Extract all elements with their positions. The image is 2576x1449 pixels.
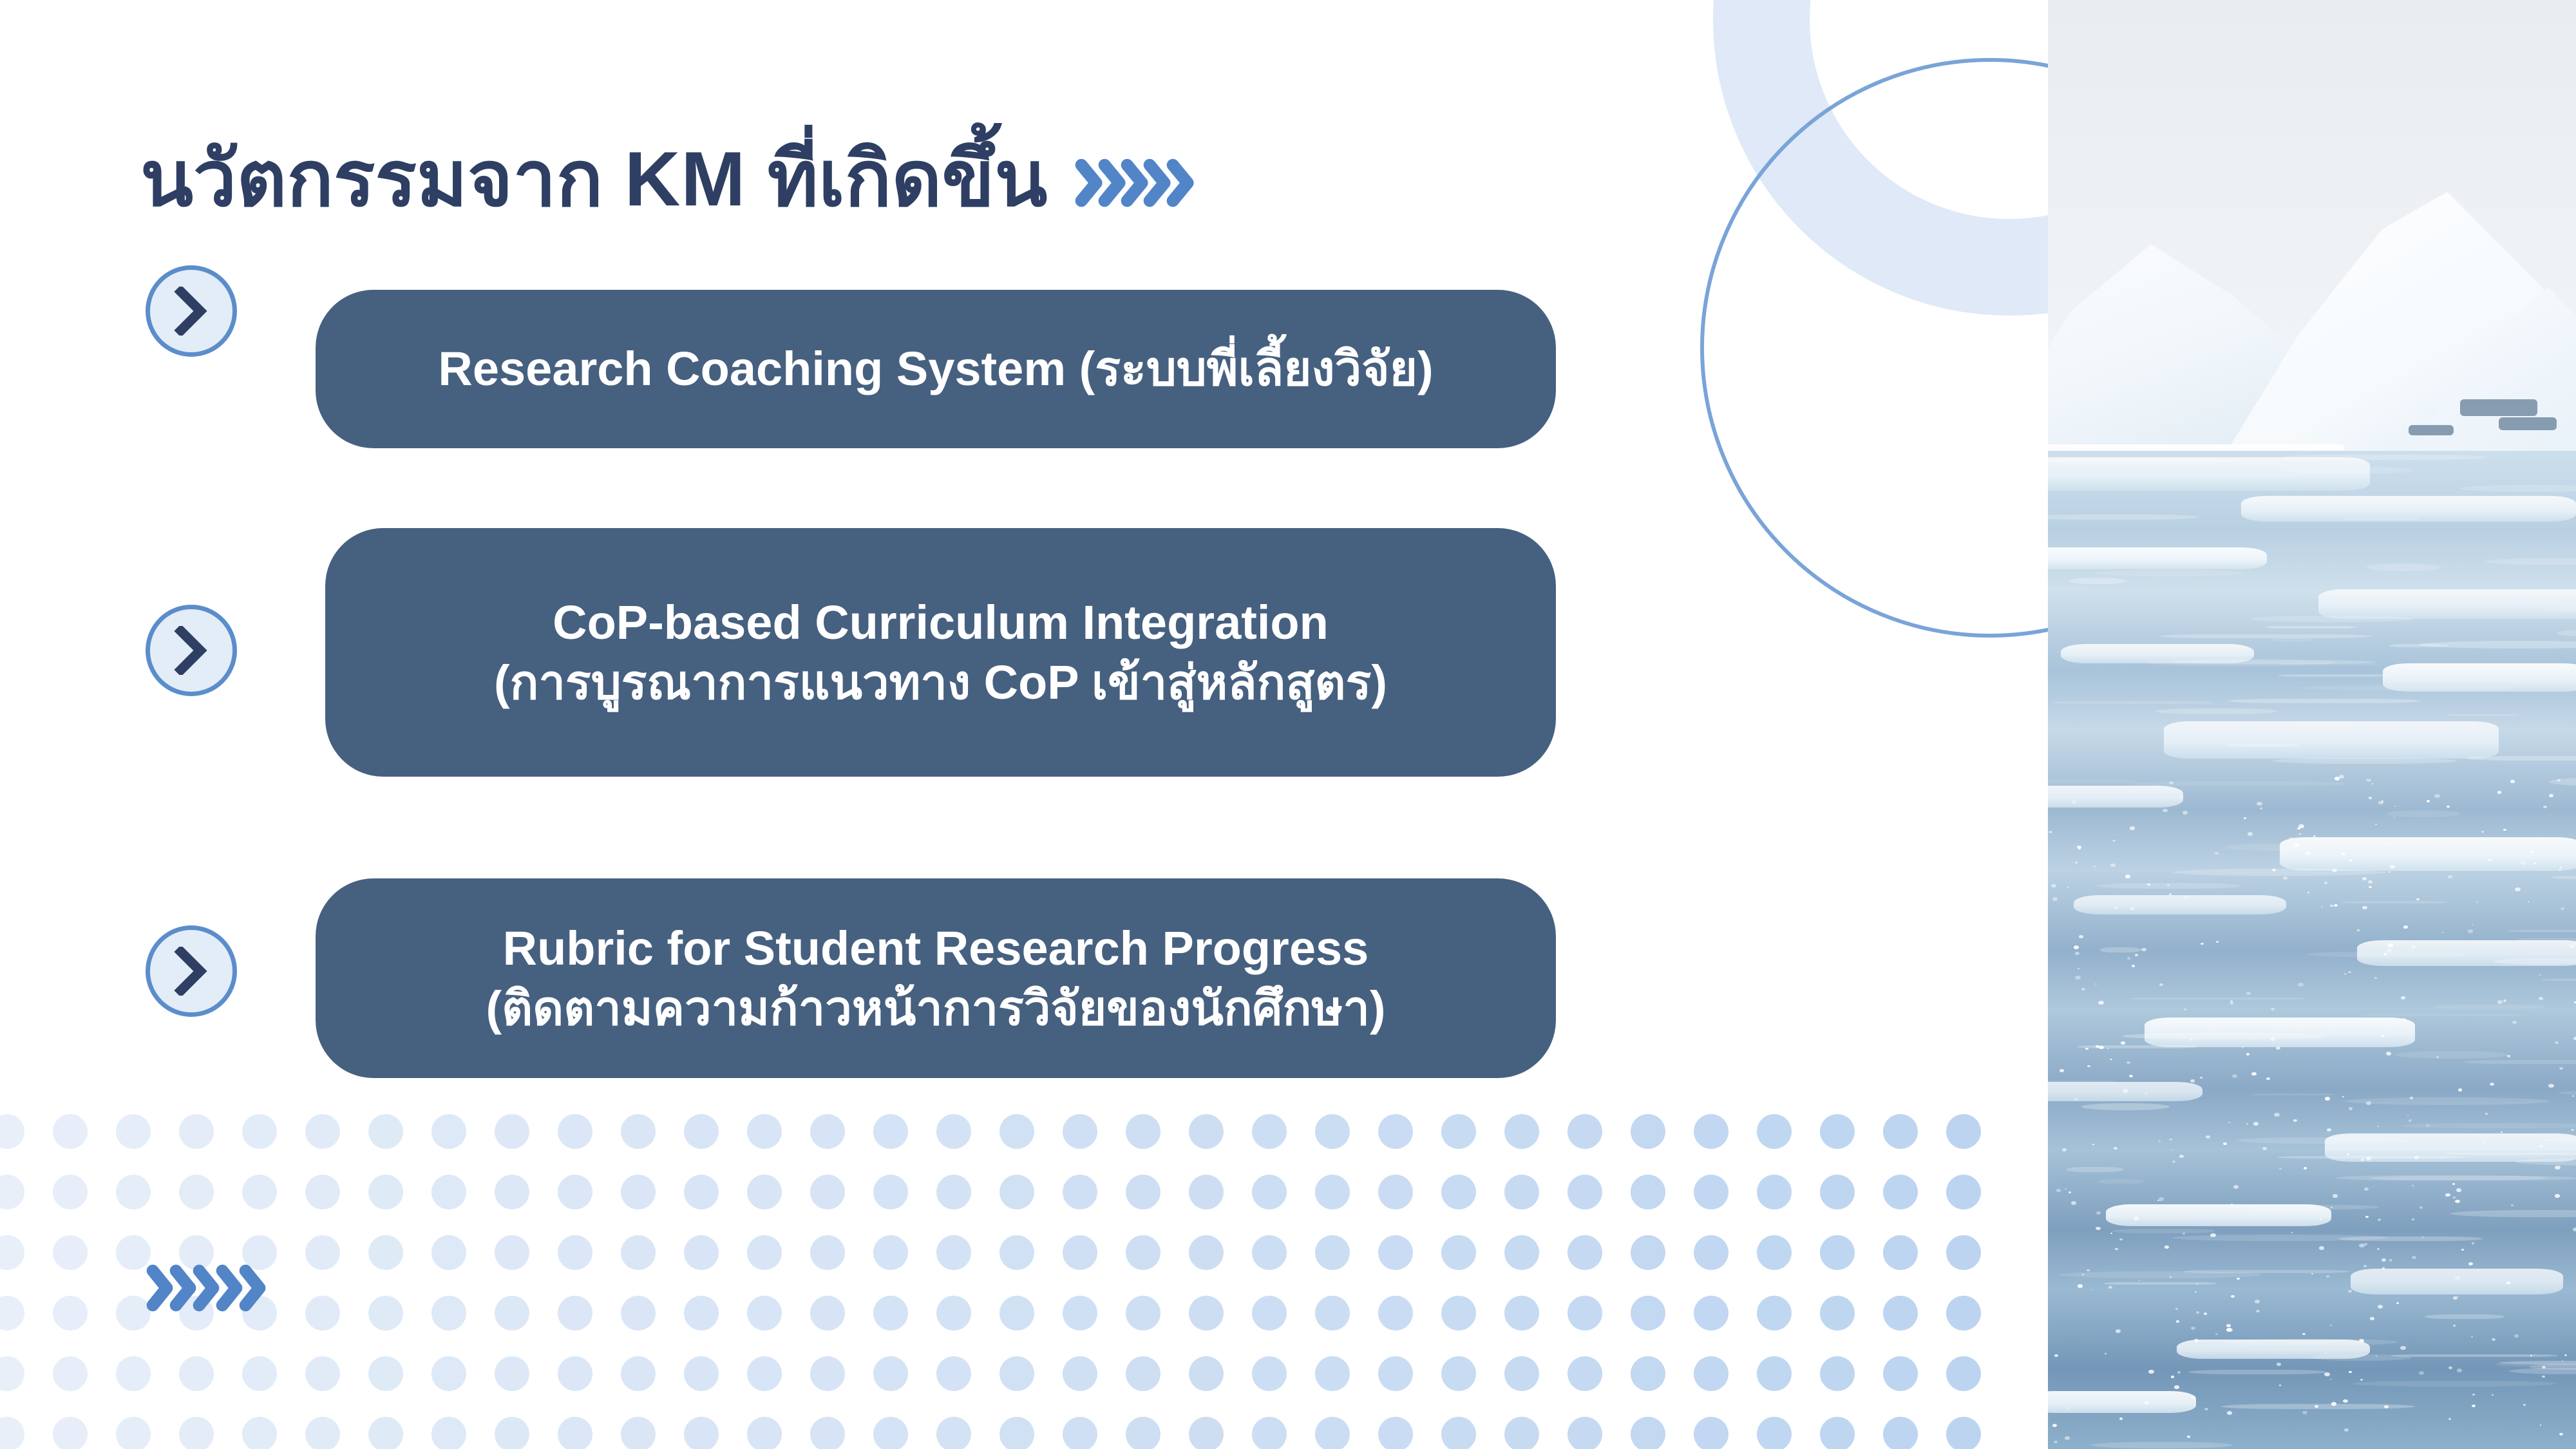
photo-water-sparkle: [2092, 1144, 2094, 1145]
photo-water-sparkle: [2564, 1354, 2567, 1356]
photo-water-sparkle: [2396, 1302, 2399, 1304]
photo-water-sparkle: [2237, 1278, 2240, 1280]
photo-water-sparkle: [2110, 1059, 2112, 1060]
grid-dot: [1189, 1175, 1224, 1209]
photo-water-sparkle: [2248, 832, 2253, 836]
photo-water-sparkle: [2378, 1305, 2383, 1309]
grid-dot: [1946, 1296, 1981, 1331]
grid-dot: [431, 1235, 466, 1270]
photo-water-sparkle: [2283, 876, 2287, 880]
photo-water-sparkle: [2331, 1402, 2336, 1406]
photo-water-sparkle: [2291, 1232, 2293, 1233]
photo-water-sparkle: [2125, 875, 2130, 878]
photo-water-sparkle: [2183, 1233, 2185, 1235]
grid-dot: [1189, 1356, 1224, 1391]
grid-dot: [1946, 1417, 1981, 1449]
grid-dot: [1946, 1235, 1981, 1270]
photo-water-streak: [2386, 810, 2460, 817]
photo-water-sparkle: [2448, 1367, 2452, 1369]
photo-water-sparkle: [2201, 943, 2204, 945]
photo-water-sparkle: [2116, 1329, 2121, 1333]
slide-title-row: นวัตกรรมจาก KM ที่เกิดขึ้น: [140, 140, 1197, 218]
photo-water-streak: [2066, 1167, 2124, 1172]
innovation-card-3-text: Rubric for Student Research Progress (ติ…: [486, 918, 1385, 1038]
photo-water-sparkle: [2442, 932, 2443, 933]
photo-water-sparkle: [2320, 1218, 2322, 1220]
photo-water-sparkle: [2204, 1312, 2207, 1315]
grid-dot: [1883, 1417, 1918, 1449]
grid-dot: [1378, 1114, 1413, 1149]
photo-water-sparkle: [2095, 789, 2096, 790]
grid-dot: [1315, 1296, 1350, 1331]
photo-water-sparkle: [2170, 1276, 2172, 1278]
grid-dot: [1441, 1296, 1476, 1331]
photo-water-sparkle: [2175, 1308, 2178, 1310]
photo-water-sparkle: [2065, 1188, 2067, 1189]
photo-water-sparkle: [2448, 875, 2452, 878]
photo-water-streak: [2091, 1442, 2233, 1448]
photo-water-sparkle: [2134, 1217, 2139, 1220]
bullet-marker-1[interactable]: [146, 265, 237, 357]
photo-water-sparkle: [2366, 1101, 2371, 1105]
photo-water-sparkle: [2246, 1053, 2249, 1056]
photo-water-sparkle: [2195, 1291, 2197, 1293]
grid-dot: [873, 1417, 908, 1449]
photo-water-sparkle: [2253, 1122, 2259, 1126]
grid-dot: [1315, 1356, 1350, 1391]
grid-dot: [0, 1175, 24, 1209]
photo-water-sparkle: [2141, 948, 2146, 951]
grid-dot: [747, 1235, 782, 1270]
innovation-card-1[interactable]: Research Coaching System (ระบบพี่เลี้ยงว…: [316, 290, 1556, 448]
photo-water-sparkle: [2364, 1243, 2367, 1245]
photo-water-sparkle: [2226, 1324, 2231, 1327]
photo-ice-floe: [2048, 1391, 2196, 1413]
photo-water-sparkle: [2107, 1048, 2109, 1049]
photo-rock-1: [2460, 399, 2537, 416]
grid-dot: [1252, 1296, 1287, 1331]
photo-water-streak: [2450, 1210, 2576, 1217]
grid-dot: [495, 1175, 529, 1209]
grid-dot: [179, 1175, 214, 1209]
grid-dot: [431, 1356, 466, 1391]
photo-water-sparkle: [2257, 802, 2262, 806]
innovation-card-2[interactable]: CoP-based Curriculum Integration (การบูร…: [325, 528, 1556, 777]
grid-dot: [558, 1175, 592, 1209]
photo-water-streak: [2355, 1014, 2525, 1016]
grid-dot: [1820, 1296, 1855, 1331]
photo-water-streak: [2099, 947, 2141, 952]
photo-water-sparkle: [2511, 1204, 2514, 1206]
grid-dot: [1063, 1356, 1097, 1391]
grid-dot: [368, 1356, 403, 1391]
photo-water-sparkle: [2110, 864, 2116, 867]
photo-water-sparkle: [2330, 1325, 2332, 1326]
photo-water-sparkle: [2216, 941, 2219, 943]
photo-water-streak: [2103, 1282, 2217, 1285]
photo-water-sparkle: [2183, 811, 2188, 815]
photo-water-sparkle: [2159, 1141, 2161, 1142]
photo-water-sparkle: [2123, 1089, 2128, 1093]
photo-water-sparkle: [2129, 1075, 2133, 1077]
photo-water-sparkle: [2401, 996, 2405, 999]
photo-water-sparkle: [2169, 893, 2172, 895]
photo-water-sparkle: [2085, 1048, 2088, 1050]
grid-dot: [1441, 1417, 1476, 1449]
photo-water-sparkle: [2174, 1385, 2179, 1389]
photo-water-sparkle: [2416, 898, 2420, 900]
photo-water-sparkle: [2298, 824, 2304, 828]
photo-water-sparkle: [2330, 905, 2333, 907]
photo-water-sparkle: [2458, 1088, 2462, 1092]
grid-dot: [368, 1235, 403, 1270]
grid-dot: [999, 1356, 1034, 1391]
photo-water-streak: [2552, 876, 2576, 879]
photo-water-sparkle: [2191, 1327, 2195, 1330]
grid-dot: [1820, 1114, 1855, 1149]
photo-water-sparkle: [2231, 1295, 2235, 1298]
photo-water-sparkle: [2477, 902, 2478, 903]
photo-water-sparkle: [2294, 843, 2300, 847]
grid-dot: [1820, 1356, 1855, 1391]
grid-dot: [621, 1175, 656, 1209]
grid-dot: [495, 1235, 529, 1270]
photo-water-sparkle: [2349, 1371, 2352, 1373]
photo-water-streak: [2172, 1235, 2388, 1241]
photo-water-sparkle: [2180, 796, 2183, 799]
grid-dot: [558, 1417, 592, 1449]
photo-water-sparkle: [2325, 1097, 2330, 1101]
photo-ice-floe: [2351, 1269, 2563, 1294]
title-prefix: นวัตกรรมจาก: [140, 136, 625, 222]
photo-water-sparkle: [2420, 1206, 2423, 1209]
photo-water-streak: [2307, 952, 2468, 957]
photo-water-sparkle: [2374, 977, 2377, 979]
photo-water-streak: [2272, 758, 2458, 764]
grid-dot: [431, 1296, 466, 1331]
photo-water-streak: [2293, 722, 2359, 728]
grid-dot: [621, 1356, 656, 1391]
photo-water-sparkle: [2468, 1262, 2473, 1265]
photo-water-sparkle: [2093, 866, 2096, 867]
grid-dot: [0, 1235, 24, 1270]
grid-dot: [1694, 1296, 1728, 1331]
photo-water-sparkle: [2510, 780, 2515, 783]
grid-dot: [242, 1417, 277, 1449]
photo-water-sparkle: [2362, 906, 2367, 909]
grid-dot: [1378, 1356, 1413, 1391]
photo-water-sparkle: [2170, 1139, 2172, 1141]
photo-water-sparkle: [2488, 859, 2491, 861]
photo-water-sparkle: [2299, 833, 2301, 835]
photo-ice-floe: [2048, 547, 2267, 569]
photo-water-sparkle: [2251, 1072, 2257, 1075]
photo-water-streak: [2226, 743, 2299, 747]
photo-water-sparkle: [2376, 1356, 2377, 1357]
grid-dot: [53, 1114, 88, 1149]
photo-water-sparkle: [2512, 1021, 2517, 1024]
photo-water-sparkle: [2414, 1156, 2419, 1159]
photo-water-sparkle: [2171, 1376, 2174, 1378]
photo-water-sparkle: [2555, 1166, 2561, 1170]
grid-dot: [0, 1114, 24, 1149]
bullet-marker-2[interactable]: [146, 605, 237, 696]
photo-water-sparkle: [2190, 1079, 2195, 1083]
photo-water-sparkle: [2572, 1095, 2574, 1097]
grid-dot: [1063, 1235, 1097, 1270]
grid-dot: [1694, 1235, 1728, 1270]
photo-water-sparkle: [2148, 1370, 2154, 1374]
photo-water-sparkle: [2147, 884, 2150, 885]
photo-water-sparkle: [2227, 1411, 2232, 1415]
photo-water-sparkle: [2562, 1360, 2563, 1361]
photo-water-sparkle: [2078, 1284, 2083, 1288]
photo-water-sparkle: [2159, 983, 2163, 986]
grid-dot: [179, 1356, 214, 1391]
photo-water-sparkle: [2485, 1113, 2488, 1115]
innovation-card-3[interactable]: Rubric for Student Research Progress (ติ…: [316, 878, 1556, 1078]
grid-dot: [1757, 1175, 1792, 1209]
photo-water-streak: [2096, 570, 2244, 576]
photo-water-streak: [2342, 518, 2420, 520]
title-highlight-km: KM: [625, 136, 746, 222]
grid-dot: [1063, 1175, 1097, 1209]
photo-water-sparkle: [2378, 801, 2383, 804]
grid-dot: [558, 1296, 592, 1331]
photo-water-sparkle: [2187, 1435, 2190, 1438]
bullet-marker-3[interactable]: [146, 925, 237, 1017]
photo-water-sparkle: [2230, 1002, 2233, 1005]
photo-water-sparkle: [2276, 1046, 2280, 1050]
photo-water-sparkle: [2215, 852, 2219, 855]
photo-water-sparkle: [2542, 1376, 2545, 1378]
photo-water-streak: [2122, 1033, 2324, 1039]
photo-water-sparkle: [2054, 1441, 2058, 1443]
photo-water-sparkle: [2412, 1218, 2414, 1220]
grid-dot: [1820, 1175, 1855, 1209]
photo-water-sparkle: [2191, 1396, 2195, 1399]
grid-dot: [1820, 1235, 1855, 1270]
photo-water-sparkle: [2394, 806, 2396, 807]
chevron-right-icon: [236, 1261, 269, 1315]
grid-dot: [116, 1417, 151, 1449]
photo-water-sparkle: [2260, 808, 2262, 810]
photo-water-sparkle: [2497, 1000, 2503, 1004]
photo-water-streak: [2433, 1005, 2545, 1009]
photo-water-sparkle: [2411, 945, 2416, 949]
photo-water-streak: [2346, 1155, 2454, 1158]
photo-water-sparkle: [2172, 1150, 2173, 1151]
photo-water-sparkle: [2051, 884, 2056, 887]
photo-water-streak: [2048, 515, 2199, 520]
photo-water-streak: [2052, 701, 2214, 704]
photo-water-sparkle: [2386, 1052, 2391, 1056]
photo-water-sparkle: [2514, 1334, 2519, 1338]
photo-water-streak: [2352, 1381, 2556, 1387]
grid-dot: [1883, 1235, 1918, 1270]
photo-water-sparkle: [2065, 1436, 2070, 1440]
photo-water-sparkle: [2377, 1126, 2379, 1127]
photo-water-sparkle: [2349, 1107, 2353, 1110]
photo-water-sparkle: [2115, 1248, 2118, 1250]
grid-dot: [1757, 1235, 1792, 1270]
photo-water-streak: [2391, 1354, 2559, 1357]
grid-dot: [999, 1296, 1034, 1331]
photo-water-sparkle: [2078, 968, 2079, 969]
photo-water-streak: [2160, 634, 2372, 638]
photo-water-sparkle: [2507, 1055, 2510, 1057]
photo-water-sparkle: [2176, 1320, 2179, 1323]
photo-water-sparkle: [2233, 1185, 2239, 1189]
grid-dot: [53, 1417, 88, 1449]
photo-water-streak: [2494, 958, 2576, 965]
photo-water-sparkle: [2530, 1355, 2532, 1356]
photo-water-sparkle: [2448, 1418, 2451, 1420]
photo-water-sparkle: [2194, 1339, 2199, 1342]
photo-rock-2: [2499, 417, 2557, 430]
grid-dot: [242, 1175, 277, 1209]
grid-dot: [1189, 1235, 1224, 1270]
grid-dot: [1631, 1356, 1665, 1391]
grid-dot: [747, 1114, 782, 1149]
grid-dot: [1063, 1296, 1097, 1331]
photo-water-sparkle: [2274, 1113, 2280, 1117]
grid-dot: [1946, 1175, 1981, 1209]
photo-water-sparkle: [2277, 1363, 2281, 1366]
photo-water-sparkle: [2457, 1368, 2462, 1372]
photo-water-sparkle: [2075, 862, 2078, 864]
photo-water-sparkle: [2515, 887, 2521, 891]
grid-dot: [1567, 1114, 1602, 1149]
grid-dot: [1567, 1235, 1602, 1270]
grid-dot: [1441, 1175, 1476, 1209]
photo-water-streak: [2048, 586, 2087, 590]
photo-water-sparkle: [2262, 1147, 2267, 1150]
grid-dot: [1946, 1356, 1981, 1391]
photo-rock-3: [2409, 425, 2454, 435]
photo-water-sparkle: [2521, 861, 2526, 865]
photo-water-sparkle: [2226, 1328, 2231, 1332]
photo-water-streak: [2466, 756, 2576, 761]
photo-water-sparkle: [2365, 1216, 2369, 1218]
photo-water-sparkle: [2528, 901, 2529, 902]
grid-dot: [431, 1175, 466, 1209]
photo-water-sparkle: [2069, 1191, 2071, 1193]
photo-water-sparkle: [2049, 831, 2052, 833]
photo-water-sparkle: [2163, 809, 2168, 812]
photo-water-sparkle: [2492, 1394, 2494, 1396]
photo-water-sparkle: [2108, 1286, 2112, 1289]
photo-water-sparkle: [2325, 1352, 2327, 1354]
photo-water-sparkle: [2409, 1119, 2412, 1122]
photo-water-streak: [2278, 663, 2380, 665]
photo-water-sparkle: [2321, 906, 2323, 907]
grid-dot: [1883, 1114, 1918, 1149]
photo-water-streak: [2389, 644, 2448, 647]
grid-dot: [1126, 1417, 1160, 1449]
grid-dot: [1504, 1417, 1539, 1449]
photo-water-sparkle: [2099, 1046, 2104, 1049]
photo-water-sparkle: [2573, 1227, 2576, 1231]
grid-dot: [1189, 1296, 1224, 1331]
photo-water-sparkle: [2110, 1233, 2112, 1234]
grid-dot: [1315, 1114, 1350, 1149]
photo-water-streak: [2340, 901, 2447, 904]
photo-water-sparkle: [2455, 1200, 2460, 1203]
photo-water-sparkle: [2256, 1310, 2260, 1312]
grid-dot: [684, 1175, 719, 1209]
photo-water-sparkle: [2394, 817, 2395, 818]
photo-water-streak: [2098, 1179, 2144, 1184]
grid-dot: [1189, 1114, 1224, 1149]
photo-water-sparkle: [2492, 1338, 2495, 1341]
photo-water-sparkle: [2095, 983, 2097, 985]
photo-water-sparkle: [2389, 1259, 2392, 1262]
photo-water-streak: [2226, 1205, 2380, 1209]
photo-water-sparkle: [2121, 1041, 2125, 1045]
photo-water-sparkle: [2056, 1189, 2061, 1192]
photo-water-sparkle: [2060, 1069, 2064, 1072]
photo-water-sparkle: [2472, 924, 2474, 925]
grid-dot: [999, 1235, 1034, 1270]
photo-water-sparkle: [2434, 794, 2440, 798]
photo-ice-floe: [2074, 895, 2286, 914]
photo-water-sparkle: [2445, 1193, 2450, 1197]
grid-dot: [1694, 1175, 1728, 1209]
photo-water-sparkle: [2427, 800, 2430, 802]
grid-dot: [873, 1175, 908, 1209]
chevron-right-icon: [173, 947, 209, 996]
photo-water-sparkle: [2452, 1183, 2455, 1185]
photo-water-sparkle: [2389, 871, 2391, 873]
photo-water-sparkle: [2135, 954, 2138, 956]
photo-water-sparkle: [2145, 1093, 2147, 1094]
photo-water-sparkle: [2573, 1037, 2576, 1040]
photo-water-sparkle: [2348, 971, 2351, 973]
grid-dot: [684, 1356, 719, 1391]
innovation-card-1-text: Research Coaching System (ระบบพี่เลี้ยงว…: [438, 339, 1433, 399]
photo-water-sparkle: [2369, 797, 2372, 799]
grid-dot: [999, 1417, 1034, 1449]
photo-water-sparkle: [2196, 1311, 2199, 1314]
photo-water-sparkle: [2506, 1282, 2510, 1284]
grid-dot: [558, 1235, 592, 1270]
photo-water-sparkle: [2390, 865, 2395, 869]
photo-water-sparkle: [2344, 973, 2347, 975]
photo-ice-floe: [2280, 837, 2576, 871]
photo-water-streak: [2173, 869, 2386, 876]
photo-water-streak: [2558, 1090, 2576, 1095]
slide-root: นวัตกรรมจาก KM ที่เกิดขึ้น Research Coac…: [0, 0, 2576, 1449]
grid-dot: [1378, 1417, 1413, 1449]
grid-dot: [1315, 1235, 1350, 1270]
grid-dot: [936, 1114, 971, 1149]
grid-dot: [621, 1296, 656, 1331]
polar-landscape-photo: [2048, 0, 2576, 1449]
photo-water-streak: [2048, 459, 2240, 463]
photo-water-sparkle: [2334, 904, 2338, 907]
photo-water-sparkle: [2548, 1084, 2554, 1088]
photo-water-sparkle: [2179, 1155, 2184, 1158]
photo-water-sparkle: [2311, 1273, 2313, 1274]
photo-water-streak: [2228, 699, 2420, 703]
grid-dot: [1757, 1417, 1792, 1449]
photo-water-sparkle: [2075, 976, 2081, 980]
photo-water-sparkle: [2571, 1129, 2574, 1131]
grid-dot: [305, 1296, 340, 1331]
photo-water-streak: [2226, 1339, 2398, 1345]
grid-dot: [621, 1114, 656, 1149]
